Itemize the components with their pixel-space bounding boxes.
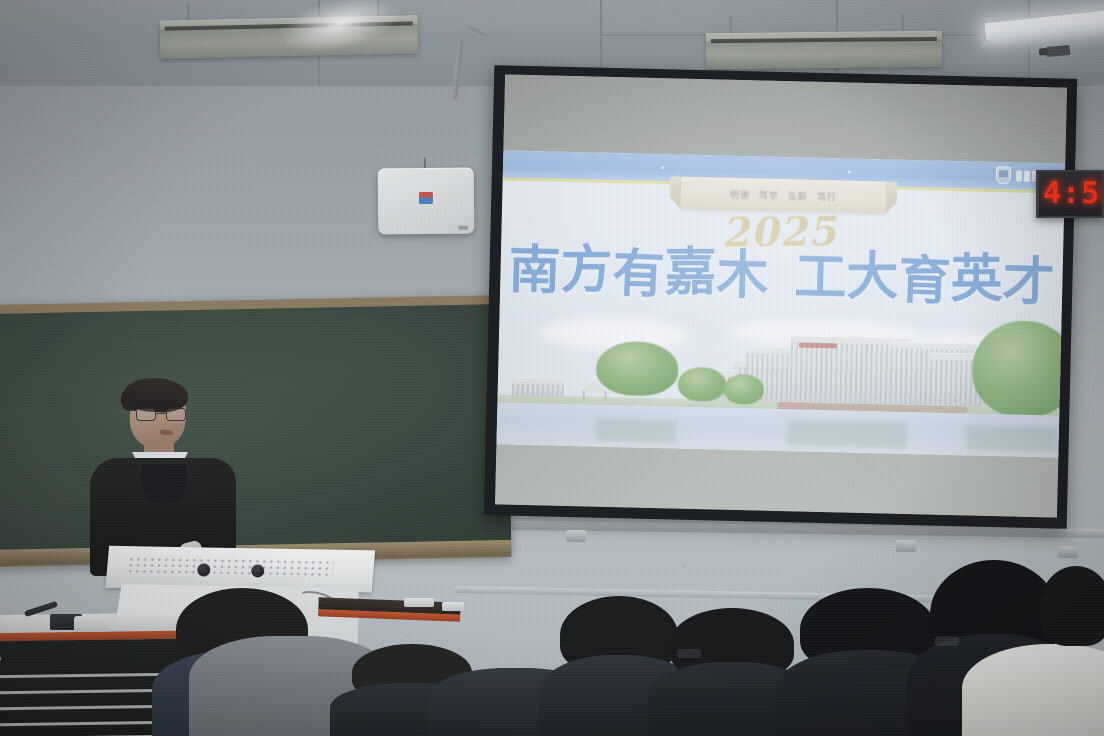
headline-char: 南 bbox=[508, 245, 561, 298]
blackboard-surface bbox=[0, 304, 511, 550]
side-table bbox=[317, 597, 460, 640]
audience-hair bbox=[1040, 566, 1104, 646]
presenter bbox=[84, 382, 242, 572]
motto-text: 明德 笃学 弘毅 笃行 bbox=[681, 177, 887, 214]
headline-char: 才 bbox=[1002, 256, 1055, 309]
motto-word: 弘毅 bbox=[788, 189, 808, 202]
lectern-speaker-grille bbox=[126, 556, 334, 580]
wall-unit-logo-icon bbox=[419, 192, 433, 204]
headline-char: 嘉 bbox=[664, 247, 716, 299]
audience-member-10 bbox=[1040, 566, 1104, 646]
headline-char: 大 bbox=[846, 251, 898, 303]
motto-word: 笃行 bbox=[817, 189, 837, 202]
headline-char: 工 bbox=[794, 251, 847, 304]
headline-char: 方 bbox=[560, 244, 612, 296]
screen-bracket bbox=[566, 530, 586, 542]
building-sign bbox=[799, 342, 837, 348]
campus-photo bbox=[496, 308, 1061, 457]
lakeside-pavilion bbox=[580, 380, 610, 401]
led-clock: 4:58 bbox=[1036, 170, 1104, 218]
motto-word: 笃学 bbox=[759, 188, 779, 201]
headline-char: 木 bbox=[716, 249, 769, 302]
slide-content: 明德 笃学 弘毅 笃行 2025 南 方 有 嘉 木 bbox=[496, 150, 1065, 457]
glasses-icon bbox=[136, 408, 186, 421]
audience-glasses-icon bbox=[676, 648, 702, 659]
lecture-hall-photo: 明德 笃学 弘毅 笃行 2025 南 方 有 嘉 木 bbox=[0, 0, 1104, 736]
side-table-item bbox=[442, 602, 464, 611]
audience-glasses-icon bbox=[934, 636, 960, 647]
audience-clothing bbox=[962, 644, 1104, 736]
motto-plaque: 明德 笃学 弘毅 笃行 bbox=[681, 177, 887, 214]
fluorescent-fixture-left bbox=[160, 15, 419, 58]
blackboard bbox=[0, 295, 511, 567]
screen-bracket bbox=[896, 540, 916, 552]
screen-surface: 明德 笃学 弘毅 笃行 2025 南 方 有 嘉 木 bbox=[495, 74, 1067, 517]
wall-unit-brand bbox=[458, 226, 468, 230]
wall-mounted-unit bbox=[378, 167, 475, 234]
headline-char: 有 bbox=[611, 248, 665, 302]
screen-frame: 明德 笃学 弘毅 笃行 2025 南 方 有 嘉 木 bbox=[484, 65, 1077, 529]
headline-char: 育 bbox=[897, 254, 951, 308]
motto-word: 明德 bbox=[730, 187, 750, 200]
letterbox-band-top bbox=[503, 74, 1067, 163]
fluorescent-fixture-center bbox=[706, 31, 942, 69]
screen-bracket bbox=[1058, 546, 1078, 558]
university-crest-icon bbox=[996, 166, 1011, 184]
headline-char: 英 bbox=[950, 254, 1002, 306]
side-table-item bbox=[404, 598, 434, 607]
clock-time: 4:58 bbox=[1043, 178, 1104, 210]
desk-item bbox=[74, 616, 108, 632]
ceiling-camera bbox=[1046, 45, 1071, 57]
projection-screen: 明德 笃学 弘毅 笃行 2025 南 方 有 嘉 木 bbox=[484, 65, 1077, 529]
audience-member-9 bbox=[986, 644, 1104, 736]
slide-headline: 南 方 有 嘉 木 工 大 育 英 才 bbox=[508, 245, 1055, 310]
